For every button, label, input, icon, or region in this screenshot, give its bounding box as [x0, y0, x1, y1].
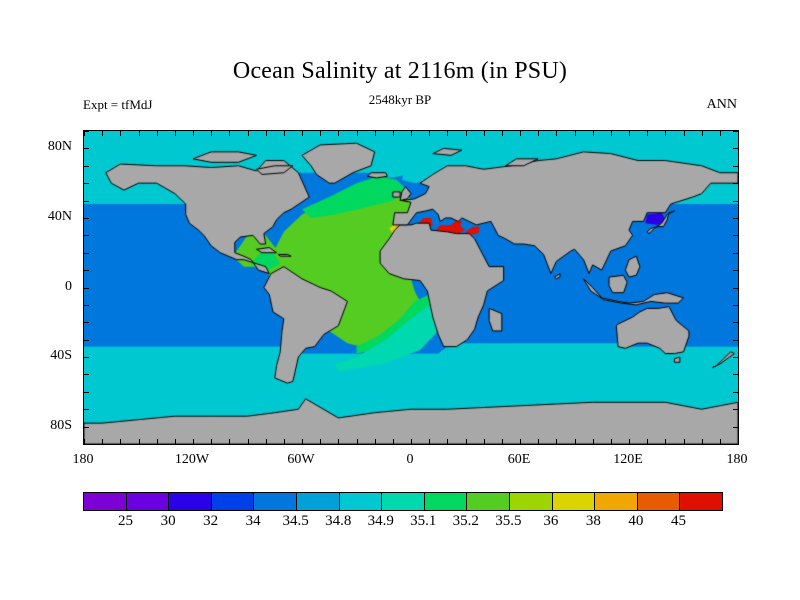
x-axis-label: 60E — [508, 452, 531, 468]
x-axis-tick — [102, 131, 103, 136]
x-axis-tick — [629, 439, 630, 444]
x-axis-tick — [665, 439, 666, 444]
x-axis-tick — [647, 439, 648, 444]
colorbar-tick-label: 32 — [203, 513, 218, 530]
y-axis-tick — [84, 148, 89, 149]
colorbar-tick-label: 34.8 — [325, 513, 351, 530]
x-axis-tick — [375, 131, 376, 136]
experiment-label: Expt = tfMdJ — [83, 97, 152, 113]
y-axis-tick — [84, 427, 89, 428]
y-axis-tick — [84, 166, 89, 167]
y-axis-tick — [84, 444, 89, 445]
colorbar-band — [253, 493, 296, 510]
colorbar-tick-label: 34 — [246, 513, 261, 530]
x-axis-tick — [248, 439, 249, 444]
y-axis-tick — [733, 201, 738, 202]
x-axis-tick — [484, 131, 485, 136]
x-axis-tick — [629, 131, 630, 136]
x-axis-tick — [447, 131, 448, 136]
colorbar-tick-label: 34.9 — [368, 513, 394, 530]
colorbar-tick-label: 35.2 — [453, 513, 479, 530]
y-axis-tick — [84, 392, 89, 393]
x-axis-tick — [102, 439, 103, 444]
x-axis-tick — [393, 439, 394, 444]
y-axis-tick — [733, 340, 738, 341]
x-axis-tick — [538, 131, 539, 136]
y-axis-tick — [733, 427, 738, 428]
colorbar-tick-label: 35.1 — [410, 513, 436, 530]
y-axis-tick — [84, 131, 89, 132]
x-axis-tick — [411, 131, 412, 136]
x-axis-tick — [520, 439, 521, 444]
x-axis-tick — [357, 131, 358, 136]
colorbar-band — [211, 493, 254, 510]
x-axis-tick — [575, 131, 576, 136]
colorbar-band — [637, 493, 680, 510]
x-axis-tick — [229, 439, 230, 444]
y-axis-tick — [733, 148, 738, 149]
x-axis-tick — [338, 131, 339, 136]
y-axis-label: 0 — [65, 279, 72, 295]
colorbar-tick-label: 45 — [671, 513, 686, 530]
colorbar-band — [679, 493, 722, 510]
y-axis-tick — [84, 305, 89, 306]
x-axis-tick — [175, 439, 176, 444]
x-axis-tick — [320, 439, 321, 444]
x-axis-tick — [429, 439, 430, 444]
y-axis-tick — [84, 322, 89, 323]
y-axis-label: 40S — [50, 348, 72, 364]
x-axis-tick — [502, 131, 503, 136]
colorbar-band — [126, 493, 169, 510]
x-axis-tick — [248, 131, 249, 136]
x-axis-tick — [193, 439, 194, 444]
x-axis-tick — [538, 439, 539, 444]
colorbar-band — [296, 493, 339, 510]
x-axis-tick — [338, 439, 339, 444]
x-axis-tick — [702, 131, 703, 136]
x-axis-tick — [611, 439, 612, 444]
x-axis-tick — [556, 131, 557, 136]
y-axis-tick — [84, 409, 89, 410]
colorbar-tick-label: 36 — [543, 513, 558, 530]
y-axis-label: 40N — [48, 209, 72, 225]
colorbar-band — [84, 493, 126, 510]
x-axis-tick — [720, 131, 721, 136]
averaging-period-label: ANN — [707, 97, 737, 113]
y-axis-tick — [733, 305, 738, 306]
x-axis-tick — [157, 439, 158, 444]
y-axis-tick — [733, 218, 738, 219]
y-axis-tick — [733, 288, 738, 289]
x-axis-tick — [484, 439, 485, 444]
y-axis-tick — [84, 183, 89, 184]
x-axis-tick — [556, 439, 557, 444]
colorbar-tick-label: 38 — [586, 513, 601, 530]
x-axis-tick — [466, 131, 467, 136]
y-axis-tick — [84, 270, 89, 271]
x-axis-tick — [175, 131, 176, 136]
y-axis-tick — [733, 270, 738, 271]
y-axis-tick — [84, 218, 89, 219]
colorbar-band — [381, 493, 424, 510]
x-axis-label: 0 — [407, 452, 414, 468]
colorbar-tick-label: 40 — [628, 513, 643, 530]
y-axis-tick — [733, 131, 738, 132]
colorbar-band — [424, 493, 467, 510]
x-axis-tick — [684, 131, 685, 136]
y-axis-label: 80N — [48, 139, 72, 155]
x-axis-tick — [738, 131, 739, 136]
x-axis-tick — [302, 439, 303, 444]
x-axis-tick — [211, 439, 212, 444]
x-axis-tick — [684, 439, 685, 444]
x-axis-tick — [193, 131, 194, 136]
x-axis-tick — [429, 131, 430, 136]
y-axis-tick — [733, 392, 738, 393]
y-axis-tick — [733, 357, 738, 358]
x-axis-tick — [302, 131, 303, 136]
map-plot-area — [83, 130, 739, 445]
x-axis-tick — [720, 439, 721, 444]
x-axis-tick — [738, 439, 739, 444]
y-axis-tick — [733, 322, 738, 323]
colorbar-band — [509, 493, 552, 510]
x-axis-tick — [139, 439, 140, 444]
salinity-map-figure: Ocean Salinity at 2116m (in PSU) 2548kyr… — [0, 0, 800, 600]
colorbar-tick-label: 34.5 — [283, 513, 309, 530]
x-axis-tick — [593, 131, 594, 136]
x-axis-tick — [375, 439, 376, 444]
x-axis-tick — [520, 131, 521, 136]
x-axis-tick — [393, 131, 394, 136]
x-axis-tick — [447, 439, 448, 444]
x-axis-tick — [611, 131, 612, 136]
x-axis-tick — [502, 439, 503, 444]
colorbar-band — [339, 493, 382, 510]
y-axis-tick — [733, 235, 738, 236]
x-axis-label: 180 — [727, 452, 748, 468]
x-axis-label: 120W — [175, 452, 209, 468]
x-axis-tick — [665, 131, 666, 136]
x-axis-tick — [284, 131, 285, 136]
y-axis-tick — [733, 183, 738, 184]
salinity-field-raster — [84, 131, 738, 444]
y-axis-tick — [84, 288, 89, 289]
x-axis-tick — [357, 439, 358, 444]
y-axis-tick — [84, 357, 89, 358]
x-axis-tick — [647, 131, 648, 136]
y-axis-tick — [733, 409, 738, 410]
colorbar-tick-label: 30 — [161, 513, 176, 530]
x-axis-tick — [211, 131, 212, 136]
x-axis-tick — [466, 439, 467, 444]
x-axis-tick — [593, 439, 594, 444]
x-axis-tick — [139, 131, 140, 136]
x-axis-tick — [266, 439, 267, 444]
x-axis-tick — [157, 131, 158, 136]
x-axis-tick — [411, 439, 412, 444]
colorbar-tick-label: 25 — [118, 513, 133, 530]
y-axis-tick — [733, 166, 738, 167]
x-axis-tick — [120, 131, 121, 136]
y-axis-tick — [84, 201, 89, 202]
page-title: Ocean Salinity at 2116m (in PSU) — [0, 58, 800, 85]
colorbar-band — [168, 493, 211, 510]
y-axis-tick — [84, 340, 89, 341]
x-axis-label: 60W — [287, 452, 314, 468]
y-axis-tick — [733, 374, 738, 375]
x-axis-tick — [284, 439, 285, 444]
x-axis-tick — [229, 131, 230, 136]
y-axis-tick — [84, 235, 89, 236]
x-axis-label: 120E — [613, 452, 643, 468]
colorbar-tick-label: 35.5 — [495, 513, 521, 530]
y-axis-label: 80S — [50, 418, 72, 434]
x-axis-label: 180 — [73, 452, 94, 468]
y-axis-tick — [84, 253, 89, 254]
x-axis-tick — [266, 131, 267, 136]
colorbar-band — [552, 493, 595, 510]
colorbar-band — [594, 493, 637, 510]
colorbar — [83, 492, 723, 511]
y-axis-tick — [733, 253, 738, 254]
colorbar-band — [466, 493, 509, 510]
y-axis-tick — [84, 374, 89, 375]
x-axis-tick — [120, 439, 121, 444]
y-axis-tick — [733, 444, 738, 445]
x-axis-tick — [575, 439, 576, 444]
x-axis-tick — [320, 131, 321, 136]
x-axis-tick — [702, 439, 703, 444]
